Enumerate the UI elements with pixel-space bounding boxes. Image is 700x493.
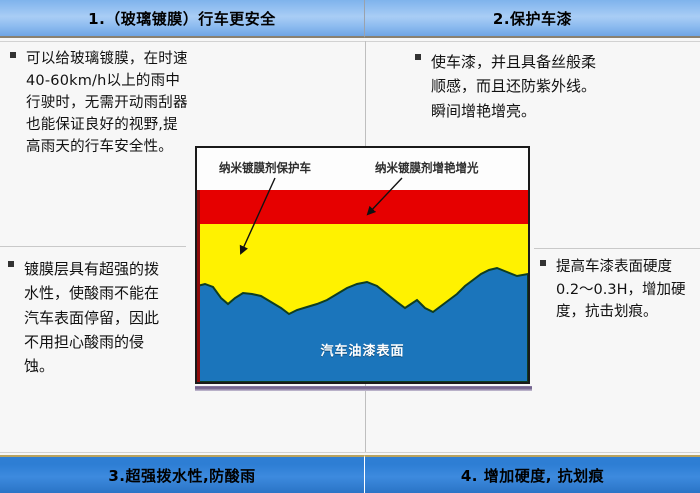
diagram-shadow: [195, 386, 532, 391]
bullet-block-3: 镀膜层具有超强的拨水性，使酸雨不能在汽车表面停留，因此不用担心酸雨的侵蚀。: [8, 257, 168, 378]
top-header-bar: 1.（玻璃镀膜）行车更安全 2.保护车漆: [0, 0, 700, 38]
square-bullet-icon: [10, 52, 16, 58]
bullet-text-1: 可以给玻璃镀膜，在时速40-60km/h以上的雨中行驶时，无需开动雨刮器也能保证…: [10, 48, 190, 158]
bullet-text-4: 提高车漆表面硬度0.2～0.3H，增加硬度，抗击划痕。: [540, 256, 692, 324]
bullet-block-2: 使车漆，并且具备丝般柔顺感，而且还防紫外线。瞬间增艳增亮。: [415, 50, 600, 123]
header-title-4: 4. 增加硬度, 抗划痕: [365, 455, 700, 493]
slide-canvas: 1.（玻璃镀膜）行车更安全 2.保护车漆 可以给玻璃镀膜，在时速40-60km/…: [0, 0, 700, 493]
diagram-arrows: [197, 148, 528, 382]
bullet-block-1: 可以给玻璃镀膜，在时速40-60km/h以上的雨中行驶时，无需开动雨刮器也能保证…: [10, 48, 190, 158]
divider-left-column: [0, 246, 186, 247]
bullet-block-4: 提高车漆表面硬度0.2～0.3H，增加硬度，抗击划痕。: [540, 256, 692, 324]
divider-under-top-banner: [0, 41, 700, 42]
square-bullet-icon: [540, 260, 546, 266]
header-title-3: 3.超强拨水性,防酸雨: [0, 455, 365, 493]
header-title-1: 1.（玻璃镀膜）行车更安全: [0, 0, 365, 38]
arrow-to-top-layer: [368, 178, 402, 214]
coating-cross-section-diagram: 纳米镀膜剂保护车 纳米镀膜剂增艳增光 汽车油漆表面: [195, 146, 530, 384]
square-bullet-icon: [8, 261, 14, 267]
square-bullet-icon: [415, 54, 421, 60]
arrow-to-coating-layer: [241, 178, 275, 253]
divider-right-column: [534, 248, 700, 249]
bullet-text-3: 镀膜层具有超强的拨水性，使酸雨不能在汽车表面停留，因此不用担心酸雨的侵蚀。: [8, 257, 168, 378]
divider-over-bottom-banner: [0, 452, 700, 453]
header-title-2: 2.保护车漆: [365, 0, 700, 38]
bottom-header-bar: 3.超强拨水性,防酸雨 4. 增加硬度, 抗划痕: [0, 455, 700, 493]
bullet-text-2: 使车漆，并且具备丝般柔顺感，而且还防紫外线。瞬间增艳增亮。: [415, 50, 600, 123]
